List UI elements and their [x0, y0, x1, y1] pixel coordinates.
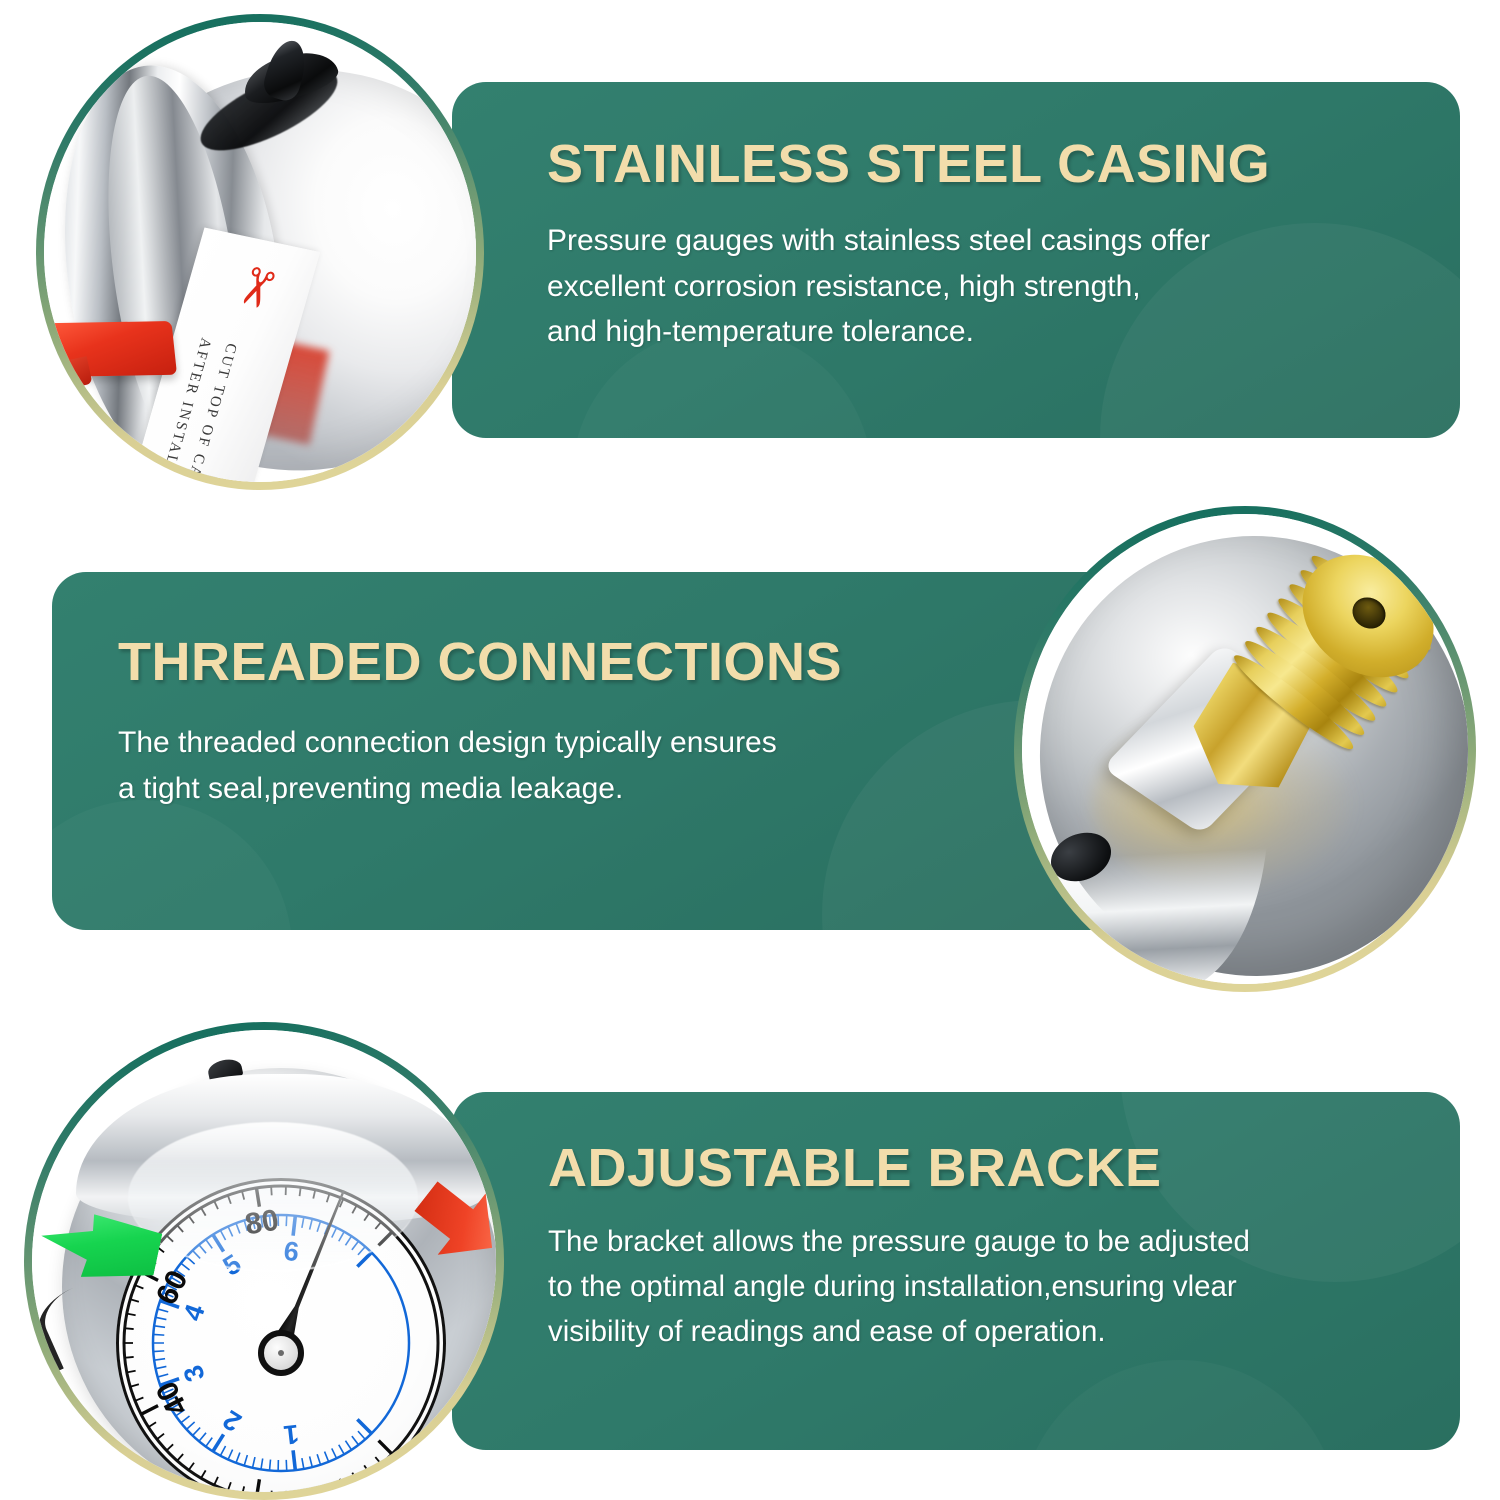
tick-mark: [242, 1486, 244, 1492]
tick-mark: [293, 1450, 295, 1470]
tick-mark: [317, 1454, 320, 1464]
tick-mark: [256, 1479, 259, 1492]
tick-mark: [244, 1455, 247, 1466]
photo-clip-circle: [1022, 514, 1468, 984]
scale-number: 2: [218, 1404, 247, 1437]
panel-description-line: The threaded connection design typically…: [118, 720, 842, 766]
brass-threaded-fitting-photo: [1014, 506, 1476, 992]
tick-mark: [300, 1490, 301, 1492]
panel-description-line: a tight seal,preventing media leakage.: [118, 766, 842, 812]
tick-mark: [352, 1473, 356, 1481]
tick-mark: [302, 1458, 304, 1469]
tick-mark: [214, 1477, 218, 1485]
tick-mark: [189, 1463, 194, 1470]
tick-mark: [236, 1453, 240, 1463]
tick-mark: [375, 1457, 381, 1464]
tick-mark: [261, 1459, 263, 1470]
panel-description-line: visibility of readings and ease of opera…: [548, 1310, 1250, 1355]
tick-mark: [379, 1441, 392, 1454]
panel-title: STAINLESS STEEL CASING: [547, 136, 1270, 192]
tick-mark: [270, 1460, 271, 1471]
tick-mark: [141, 1406, 158, 1415]
panel-description: Pressure gauges with stainless steel cas…: [547, 218, 1270, 355]
tick-mark: [340, 1479, 344, 1487]
tick-mark: [130, 1299, 139, 1302]
tick-mark: [127, 1314, 136, 1316]
tick-mark: [181, 1416, 190, 1423]
panel-text-block: ADJUSTABLE BRACKE The bracket allows the…: [548, 1140, 1250, 1355]
tick-mark: [156, 1366, 167, 1368]
tick-mark: [125, 1328, 134, 1329]
gauge-dial-face-photo: 406080 123456: [24, 1022, 504, 1500]
tick-mark: [153, 1351, 164, 1352]
gauge-hub-center: [278, 1350, 284, 1356]
tick-mark: [358, 1431, 365, 1439]
tick-mark: [177, 1454, 183, 1461]
tick-mark: [130, 1384, 139, 1387]
tick-mark: [199, 1433, 206, 1441]
tick-mark: [187, 1422, 195, 1429]
feature-panel-threaded-connections: THREADED CONNECTIONS The threaded connec…: [52, 572, 1132, 930]
panel-text-block: THREADED CONNECTIONS The threaded connec…: [118, 634, 842, 811]
tick-mark: [327, 1484, 330, 1492]
tick-mark: [157, 1434, 164, 1440]
panel-title: THREADED CONNECTIONS: [118, 634, 842, 690]
tick-mark: [148, 1422, 156, 1427]
tick-mark: [253, 1457, 255, 1468]
tick-mark: [220, 1446, 225, 1456]
tick-mark: [364, 1465, 369, 1472]
panel-decorative-circle-secondary: [1020, 1360, 1340, 1450]
tick-mark: [167, 1444, 174, 1450]
tick-mark: [154, 1359, 165, 1360]
feature-panel-stainless-steel-casing: STAINLESS STEEL CASING Pressure gauges w…: [452, 82, 1460, 438]
tick-mark: [228, 1482, 231, 1490]
tick-mark: [345, 1441, 351, 1450]
panel-decorative-circle-secondary: [52, 800, 292, 930]
panel-description-line: The bracket allows the pressure gauge to…: [548, 1220, 1250, 1265]
gauge-case-back-photo: ✂ AFTER INSTALLA CUT TOP OF CAP: [36, 14, 484, 490]
photo-clip-circle: 406080 123456: [32, 1030, 496, 1492]
scale-number: 3: [178, 1361, 211, 1385]
panel-description-line: and high-temperature tolerance.: [547, 309, 1270, 355]
tick-mark: [325, 1452, 329, 1462]
tick-mark: [206, 1438, 212, 1447]
tick-mark: [357, 1419, 371, 1433]
tick-mark: [313, 1487, 315, 1492]
tick-mark: [125, 1357, 134, 1358]
tick-mark: [127, 1371, 136, 1373]
panel-description-line: to the optimal angle during installation…: [548, 1265, 1250, 1310]
tick-mark: [156, 1317, 167, 1319]
panel-description-line: Pressure gauges with stainless steel cas…: [547, 218, 1270, 264]
tick-mark: [352, 1436, 359, 1445]
tick-mark: [332, 1448, 337, 1458]
panel-description: The bracket allows the pressure gauge to…: [548, 1220, 1250, 1354]
panel-description-line: excellent corrosion resistance, high str…: [547, 264, 1270, 310]
scissors-icon: ✂: [223, 259, 289, 316]
scale-number: 4: [178, 1301, 211, 1325]
tick-mark: [310, 1456, 313, 1467]
tick-mark: [201, 1470, 206, 1478]
tick-mark: [339, 1445, 344, 1455]
panel-description: The threaded connection design typically…: [118, 720, 842, 811]
tick-mark: [158, 1309, 169, 1312]
tick-mark: [271, 1491, 272, 1492]
tick-mark: [158, 1374, 169, 1377]
tick-mark: [213, 1434, 224, 1451]
photo-clip-circle: ✂ AFTER INSTALLA CUT TOP OF CAP: [44, 22, 476, 482]
tick-mark: [135, 1397, 143, 1400]
tick-mark: [154, 1326, 165, 1327]
tick-mark: [228, 1450, 233, 1460]
infographic-page: STAINLESS STEEL CASING Pressure gauges w…: [0, 0, 1500, 1500]
tick-mark: [193, 1428, 201, 1436]
feature-panel-adjustable-bracket: ADJUSTABLE BRACKE The bracket allows the…: [452, 1092, 1460, 1450]
panel-text-block: STAINLESS STEEL CASING Pressure gauges w…: [547, 136, 1270, 355]
tick-mark: [135, 1285, 143, 1288]
scale-number: 1: [282, 1419, 300, 1450]
tick-mark: [181, 1263, 190, 1270]
panel-title: ADJUSTABLE BRACKE: [548, 1140, 1250, 1196]
gauge-crystal-lens: [128, 1122, 418, 1272]
tick-mark: [153, 1334, 164, 1335]
